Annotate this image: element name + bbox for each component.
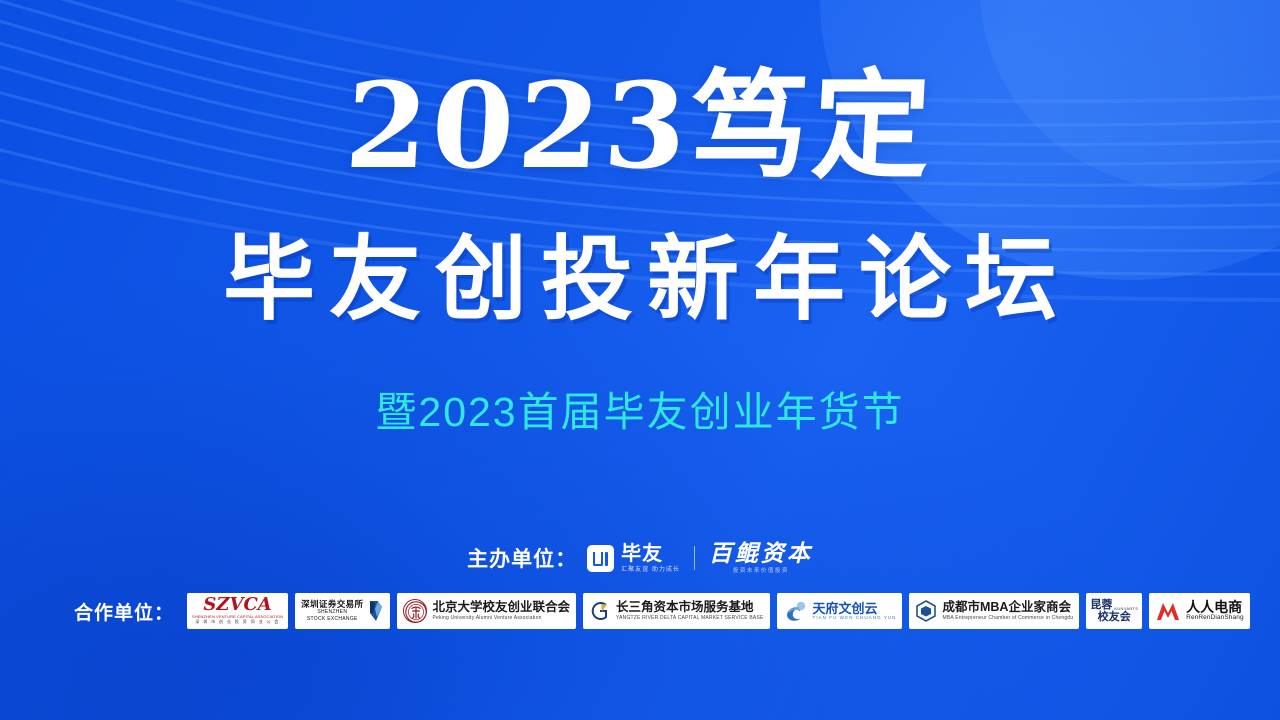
- yangtze-g-icon: [589, 599, 611, 623]
- kunrong-chinese-line2: 校友会: [1098, 612, 1131, 623]
- szvca-wordmark: SZVCA: [203, 596, 271, 614]
- biyou-slogan: 汇聚友谊 助力成长: [621, 567, 680, 573]
- host-logo-biyou: 毕友 汇聚友谊 助力成长: [587, 544, 680, 573]
- renren-chinese-name: 人人电商: [1186, 600, 1244, 614]
- partner-row: 合作单位： SZVCA SHENZHEN VENTURE CAPITAL ASS…: [0, 593, 1280, 629]
- bokun-name: 百鲲资本: [709, 542, 813, 565]
- tianfu-swirl-icon: [783, 600, 808, 622]
- szvca-chinese-name: 深 圳 市 创 业 投 资 同 业 公 会: [195, 620, 280, 624]
- pku-seal-icon: [403, 599, 427, 623]
- page-title: 2023笃定: [0, 62, 1280, 189]
- biyou-name: 毕友: [621, 544, 680, 564]
- partner-logo-renren[interactable]: 人人电商 RenRenDianShang: [1149, 593, 1250, 629]
- pku-chinese-name: 北京大学校友创业联合会: [432, 601, 570, 615]
- host-logo-bokun: 百鲲资本 投资未来价值投资: [709, 542, 813, 575]
- mba-chinese-name: 成都市MBA企业家商会: [942, 601, 1073, 615]
- bokun-slogan: 投资未来价值投资: [733, 569, 789, 575]
- partner-logo-tianfu[interactable]: 天府文创云 TIAN FU WEN CHUANG YUN: [777, 593, 903, 629]
- szse-chinese-name: 深圳证券交易所: [301, 600, 363, 609]
- partner-logo-kunrong-alumni[interactable]: 昆蓉 KUNYARTS 校友会: [1086, 593, 1142, 629]
- host-divider: [694, 546, 695, 570]
- partner-logo-chengdu-mba[interactable]: 成都市MBA企业家商会 MBA Entrepreneur Chamber of …: [909, 593, 1079, 629]
- renren-m-icon: [1155, 599, 1181, 623]
- kunrong-chinese-line1: 昆蓉: [1090, 600, 1112, 611]
- tianfu-english-name: TIAN FU WEN CHUANG YUN: [813, 616, 897, 621]
- szse-english-line2: STOCK EXCHANGE: [307, 616, 358, 622]
- partner-label: 合作单位：: [74, 598, 174, 625]
- mba-english-name: MBA Entrepreneur Chamber of Commerce in …: [942, 616, 1073, 622]
- yangtze-chinese-name: 长三角资本市场服务基地: [616, 601, 764, 615]
- partner-logo-szse[interactable]: 深圳证券交易所 SHENZHEN STOCK EXCHANGE: [295, 593, 390, 629]
- pku-english-name: Peking University Alumni Venture Associa…: [432, 616, 570, 622]
- partner-logo-szvca[interactable]: SZVCA SHENZHEN VENTURE CAPITAL ASSOCIATI…: [187, 593, 288, 629]
- event-tagline: 暨2023首届毕友创业年货节: [0, 378, 1280, 438]
- event-name: 毕友创投新年论坛: [0, 232, 1280, 329]
- mba-cube-icon: [915, 599, 937, 623]
- szse-ribbon-icon: [368, 599, 384, 623]
- partner-logo-yangtze-delta[interactable]: 长三角资本市场服务基地 YANGTZE RIVER DELTA CAPITAL …: [583, 593, 770, 629]
- szse-english-line1: SHENZHEN: [317, 609, 347, 615]
- host-row: 主办单位： 毕友 汇聚友谊 助力成长 百鲲资本 投资未来价值投资: [0, 542, 1280, 575]
- host-label: 主办单位：: [467, 543, 577, 573]
- renren-english-name: RenRenDianShang: [1186, 615, 1244, 622]
- yangtze-english-name: YANGTZE RIVER DELTA CAPITAL MARKET SERVI…: [616, 616, 764, 622]
- biyou-square-mark-icon: [587, 545, 614, 572]
- kunrong-english-name: KUNYARTS: [1114, 607, 1138, 611]
- partner-logo-pku-alumni[interactable]: 北京大学校友创业联合会 Peking University Alumni Ven…: [397, 593, 576, 629]
- tianfu-chinese-name: 天府文创云: [813, 602, 897, 615]
- event-poster: 2023笃定 毕友创投新年论坛 暨2023首届毕友创业年货节 主办单位： 毕友 …: [0, 0, 1280, 720]
